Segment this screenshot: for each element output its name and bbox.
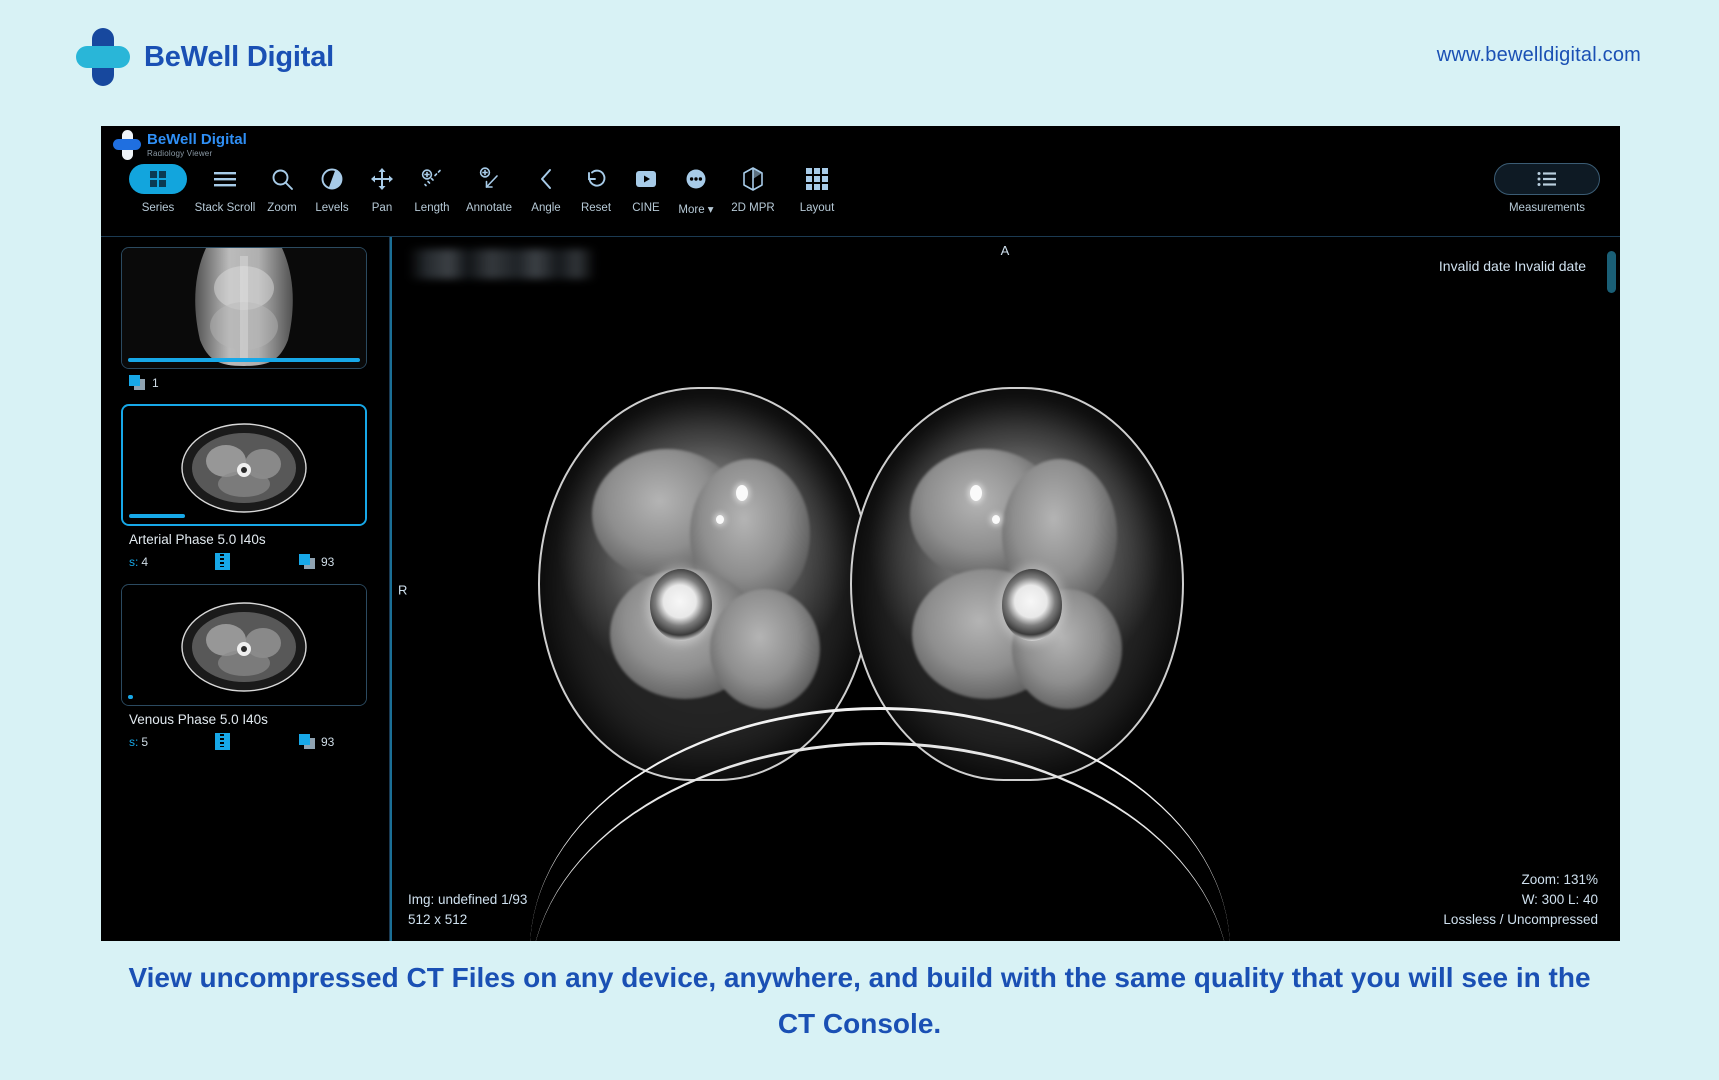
series-count-value: 93 bbox=[321, 735, 334, 749]
series-title: Venous Phase 5.0 I40s bbox=[129, 712, 361, 727]
ct-image bbox=[390, 237, 1620, 941]
layout-grid-icon bbox=[805, 163, 829, 195]
tool-stack-scroll[interactable]: Stack Scroll bbox=[193, 163, 257, 214]
viewer-topbar: BeWell Digital Radiology Viewer Series S… bbox=[101, 126, 1620, 237]
tool-series-label: Series bbox=[142, 202, 175, 214]
tool-pan-label: Pan bbox=[372, 202, 392, 214]
toolbar: Series Stack Scroll Zoom Levels bbox=[123, 163, 849, 216]
tool-angle[interactable]: Angle bbox=[521, 163, 571, 214]
tool-layout-label: Layout bbox=[800, 202, 835, 214]
series-meta: Arterial Phase 5.0 I40s s:4 93 bbox=[121, 526, 369, 570]
list-icon bbox=[1494, 163, 1600, 195]
series-count-value: 93 bbox=[321, 555, 334, 569]
magnifier-icon bbox=[270, 163, 294, 195]
series-title: Arterial Phase 5.0 I40s bbox=[129, 532, 361, 547]
series-list-item[interactable]: Venous Phase 5.0 I40s s:5 93 bbox=[121, 584, 369, 750]
tool-more-label: More ▾ bbox=[678, 202, 713, 216]
series-number-value: 4 bbox=[141, 555, 148, 569]
ellipsis-circle-icon bbox=[684, 163, 708, 195]
tool-2d-mpr[interactable]: 2D MPR bbox=[721, 163, 785, 214]
hamburger-icon bbox=[213, 163, 237, 195]
viewer-cross-logo-icon bbox=[113, 130, 141, 160]
length-ruler-icon bbox=[419, 163, 445, 195]
tool-2d-mpr-label: 2D MPR bbox=[731, 202, 774, 214]
page-header: BeWell Digital www.bewelldigital.com bbox=[0, 0, 1719, 118]
series-list-item[interactable]: Arterial Phase 5.0 I40s s:4 93 bbox=[121, 404, 369, 570]
image-info-overlay: Img: undefined 1/93 512 x 512 bbox=[408, 890, 527, 930]
compression-label: Lossless / Uncompressed bbox=[1443, 910, 1598, 930]
site-url-link[interactable]: www.bewelldigital.com bbox=[1437, 44, 1641, 67]
grid-icon bbox=[129, 164, 187, 194]
tool-stack-scroll-label: Stack Scroll bbox=[195, 202, 256, 214]
series-thumbnail[interactable] bbox=[121, 247, 367, 369]
patient-name-redacted bbox=[408, 249, 596, 279]
series-thumbnail[interactable] bbox=[121, 404, 367, 526]
brand: BeWell Digital bbox=[76, 28, 334, 86]
orientation-anterior-label: A bbox=[1001, 243, 1010, 258]
series-image-count: 1 bbox=[121, 369, 369, 390]
viewer-brand-title: BeWell Digital bbox=[147, 132, 247, 148]
compressed-archive-icon bbox=[215, 553, 230, 570]
measurements-label: Measurements bbox=[1509, 202, 1585, 214]
viewer-body: 1 bbox=[101, 237, 1620, 941]
tool-layout[interactable]: Layout bbox=[785, 163, 849, 214]
image-dimensions-label: 512 x 512 bbox=[408, 910, 527, 930]
image-index-label: Img: undefined 1/93 bbox=[408, 890, 527, 910]
series-number-label: s: bbox=[129, 735, 138, 749]
brand-name: BeWell Digital bbox=[144, 41, 334, 74]
tool-more[interactable]: More ▾ bbox=[671, 163, 721, 216]
series-progress-bar bbox=[129, 514, 185, 518]
tool-cine[interactable]: CINE bbox=[621, 163, 671, 214]
tool-length-label: Length bbox=[414, 202, 449, 214]
series-stats: s:5 93 bbox=[129, 733, 361, 750]
zoom-level-label: Zoom: 131% bbox=[1443, 870, 1598, 890]
study-date-label: Invalid date Invalid date bbox=[1439, 258, 1586, 274]
series-meta: Venous Phase 5.0 I40s s:5 93 bbox=[121, 706, 369, 750]
series-number-label: s: bbox=[129, 555, 138, 569]
tool-levels-label: Levels bbox=[315, 202, 348, 214]
cube-icon bbox=[741, 163, 765, 195]
display-settings-overlay: Zoom: 131% W: 300 L: 40 Lossless / Uncom… bbox=[1443, 870, 1598, 930]
image-stack-icon bbox=[299, 554, 315, 569]
tool-annotate[interactable]: Annotate bbox=[457, 163, 521, 214]
tool-levels[interactable]: Levels bbox=[307, 163, 357, 214]
measurements-button[interactable]: Measurements bbox=[1494, 163, 1600, 214]
play-box-icon bbox=[634, 163, 658, 195]
series-list-item[interactable]: 1 bbox=[121, 247, 369, 390]
series-thumbnail[interactable] bbox=[121, 584, 367, 706]
series-sidebar[interactable]: 1 bbox=[101, 237, 390, 941]
move-arrows-icon bbox=[370, 163, 394, 195]
image-stack-icon bbox=[129, 375, 145, 390]
series-number-value: 5 bbox=[141, 735, 148, 749]
tool-angle-label: Angle bbox=[531, 202, 560, 214]
undo-icon bbox=[584, 163, 608, 195]
page-caption: View uncompressed CT Files on any device… bbox=[0, 955, 1719, 1047]
compressed-archive-icon bbox=[215, 733, 230, 750]
series-progress-bar bbox=[128, 358, 360, 362]
tool-annotate-label: Annotate bbox=[466, 202, 512, 214]
tool-length[interactable]: Length bbox=[407, 163, 457, 214]
annotate-arrow-icon bbox=[476, 163, 502, 195]
chevron-left-icon bbox=[535, 163, 557, 195]
tool-reset-label: Reset bbox=[581, 202, 611, 214]
image-viewport[interactable]: A R Invalid date Invalid date Img: undef… bbox=[390, 237, 1620, 941]
viewer-brand-subtitle: Radiology Viewer bbox=[147, 148, 247, 159]
tool-reset[interactable]: Reset bbox=[571, 163, 621, 214]
bewell-cross-logo-icon bbox=[76, 28, 130, 86]
orientation-right-label: R bbox=[398, 582, 407, 597]
ct-table-arc-secondary bbox=[530, 742, 1230, 941]
contrast-icon bbox=[320, 163, 344, 195]
tool-series[interactable]: Series bbox=[123, 163, 193, 214]
image-stack-icon bbox=[299, 734, 315, 749]
window-level-label: W: 300 L: 40 bbox=[1443, 890, 1598, 910]
viewer-brand: BeWell Digital Radiology Viewer bbox=[113, 130, 247, 160]
tool-pan[interactable]: Pan bbox=[357, 163, 407, 214]
series-count-value: 1 bbox=[152, 376, 159, 390]
tool-cine-label: CINE bbox=[632, 202, 659, 214]
viewport-scrollbar[interactable] bbox=[1607, 251, 1616, 293]
series-progress-bar bbox=[128, 695, 133, 699]
tool-zoom-label: Zoom bbox=[267, 202, 296, 214]
radiology-viewer-window: BeWell Digital Radiology Viewer Series S… bbox=[101, 126, 1620, 941]
tool-zoom[interactable]: Zoom bbox=[257, 163, 307, 214]
series-stats: s:4 93 bbox=[129, 553, 361, 570]
